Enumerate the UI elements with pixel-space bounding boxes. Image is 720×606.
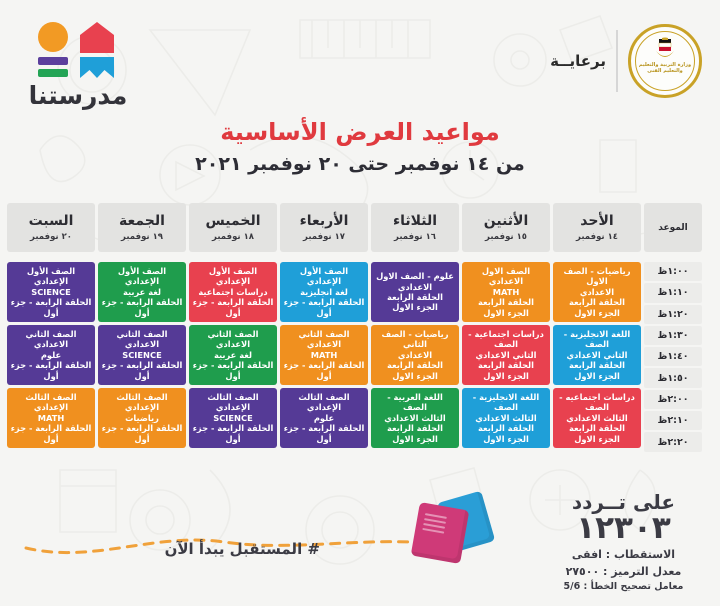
lesson-line: الحلقة الرابعة - جزء أول: [192, 360, 274, 381]
lesson-line: SCIENCE: [122, 350, 162, 360]
logo-purple-bar-shape: [38, 57, 68, 65]
ministry-emblem-icon: وزارة التربية والتعليم والتعليم الفنى: [628, 24, 702, 98]
lesson-line: علوم: [314, 413, 334, 423]
lesson-line: دراسات اجتماعية - الصف: [465, 329, 547, 350]
lesson-line: لغة عربية: [123, 287, 161, 297]
lesson-slot[interactable]: دراسات اجتماعية - الصفالثاني الاعداديالح…: [462, 325, 550, 385]
lesson-slot[interactable]: الصف الثاني الاعداديSCIENCEالحلقة الرابع…: [98, 325, 186, 385]
lesson-line: لغة انجليزية: [300, 287, 348, 297]
fec-text: معامل تصحيح الخطأ : 5/6: [541, 581, 706, 592]
ministry-emblem-block: وزارة التربية والتعليم والتعليم الفنى بر…: [550, 24, 702, 98]
lesson-slot[interactable]: الصف الثاني الاعداديلغة عربيةالحلقة الرا…: [189, 325, 277, 385]
day-name: الأثنين: [484, 214, 529, 228]
day-date: ١٦ نوفمبر: [394, 232, 436, 242]
day-column-2: الصف الاول الاعداديMATHالحلقة الرابعةالج…: [462, 262, 550, 452]
day-header-7: السبت٢٠ نوفمبر: [7, 203, 95, 252]
lesson-slot[interactable]: اللغة الانجليزية - الصفالثالث الاعداديال…: [462, 388, 550, 448]
lesson-line: الجزء الاول: [574, 371, 620, 381]
lesson-line: الصف الثالث الإعدادي: [192, 392, 274, 413]
lesson-line: الحلقة الرابعة: [478, 423, 534, 433]
lesson-line: اللغة الانجليزية - الصف: [556, 329, 638, 350]
lesson-slot[interactable]: الصف الثالث الإعداديSCIENCEالحلقة الرابع…: [189, 388, 277, 448]
time-cell-8: ٢:١٠ظ: [644, 411, 702, 430]
lesson-slot[interactable]: اللغة الانجليزية - الصفالثاني الاعداديال…: [553, 325, 641, 385]
lesson-line: الصف الأول الإعدادي: [192, 266, 274, 287]
lesson-line: الحلقة الرابعة - جزء أول: [10, 297, 92, 318]
logo-circle-shape: [38, 22, 68, 52]
time-cell-2: ١:١٠ظ: [644, 283, 702, 302]
lesson-line: لغة عربية: [214, 350, 252, 360]
lesson-line: الصف الأول الإعدادي: [283, 266, 365, 287]
day-name: الأحد: [580, 214, 613, 228]
time-cell-3: ١:٢٠ظ: [644, 305, 702, 324]
logo-blue-shape: [80, 57, 114, 78]
lesson-line: الصف الاول الاعدادي: [465, 266, 547, 287]
lesson-line: الصف الثالث الإعدادي: [10, 392, 92, 413]
day-name: الجمعة: [119, 214, 165, 228]
lesson-line: الاعدادي: [398, 350, 432, 360]
lesson-line: الحلقة الرابعة - جزء أول: [283, 297, 365, 318]
frequency-value: ١٢٣٠٣: [541, 513, 706, 544]
day-column-6: الصف الأول الإعداديلغة عربيةالحلقة الراب…: [98, 262, 186, 452]
header-divider: [616, 30, 618, 92]
lesson-line: MATH: [493, 287, 520, 297]
lesson-line: MATH: [311, 350, 338, 360]
lesson-line: الحلقة الرابعة - جزء أول: [101, 423, 183, 444]
lesson-line: دراسات اجتماعيه - الصف: [556, 392, 638, 413]
symbol-rate-text: معدل الترميز : ٢٧٥٠٠: [541, 565, 706, 578]
lesson-line: الجزء الاول: [483, 371, 529, 381]
lesson-line: اللغة الانجليزية - الصف: [465, 392, 547, 413]
books-illustration: [413, 494, 505, 566]
lesson-slot[interactable]: رياضيات - الصف الثانيالاعداديالحلقة الرا…: [371, 325, 459, 385]
time-column-header-label: الموعد: [658, 223, 688, 233]
day-date: ١٥ نوفمبر: [485, 232, 527, 242]
lesson-line: الجزء الاول: [483, 434, 529, 444]
lesson-slot[interactable]: الصف الثاني الاعداديعلومالحلقة الرابعة -…: [7, 325, 95, 385]
day-name: الخميس: [205, 214, 260, 228]
lesson-line: الحلقة الرابعة: [569, 297, 625, 307]
lesson-line: الصف الثالث الإعدادي: [101, 392, 183, 413]
lesson-line: الحلقة الرابعة: [387, 423, 443, 433]
lesson-line: الحلقة الرابعة: [478, 360, 534, 370]
day-header-2: الأثنين١٥ نوفمبر: [462, 203, 550, 252]
day-header-row: الموعدالأحد١٤ نوفمبرالأثنين١٥ نوفمبرالثل…: [7, 203, 702, 252]
lesson-slot[interactable]: الصف الثاني الاعداديMATHالحلقة الرابعة -…: [280, 325, 368, 385]
time-cell-7: ٢:٠٠ظ: [644, 390, 702, 409]
day-column-7: الصف الأول الإعداديSCIENCEالحلقة الرابعة…: [7, 262, 95, 452]
lesson-line: رياضيات - الصف الثاني: [374, 329, 456, 350]
lesson-line: الثالث الاعدادي: [475, 413, 536, 423]
lesson-line: الحلقة الرابعة: [387, 360, 443, 370]
day-name: الأربعاء: [300, 214, 349, 228]
lesson-line: الصف الثالث الإعدادي: [283, 392, 365, 413]
lesson-slot[interactable]: دراسات اجتماعيه - الصفالثالث الاعداديالح…: [553, 388, 641, 448]
page-header: وزارة التربية والتعليم والتعليم الفنى بر…: [0, 0, 720, 128]
lesson-line: SCIENCE: [213, 413, 253, 423]
schedule-grid: ١:٠٠ظ١:١٠ظ١:٢٠ظ١:٣٠ظ١:٤٠ظ١:٥٠ظ٢:٠٠ظ٢:١٠ظ…: [7, 262, 702, 452]
lesson-line: الحلقة الرابعة - جزء أول: [283, 360, 365, 381]
lesson-line: رياضيات - الصف الاول: [556, 266, 638, 287]
time-cell-4: ١:٣٠ظ: [644, 326, 702, 345]
lesson-line: الثاني الاعدادي: [475, 350, 536, 360]
lesson-slot[interactable]: الصف الأول الإعداديدراسات اجتماعيةالحلقة…: [189, 262, 277, 322]
lesson-line: الجزء الاول: [574, 308, 620, 318]
emblem-caption: وزارة التربية والتعليم والتعليم الفنى: [628, 62, 702, 75]
day-header-6: الجمعة١٩ نوفمبر: [98, 203, 186, 252]
lesson-line: الجزء الاول: [392, 302, 438, 312]
day-header-3: الثلاثاء١٦ نوفمبر: [371, 203, 459, 252]
day-header-5: الخميس١٨ نوفمبر: [189, 203, 277, 252]
madrasatna-brand: مدرستنا: [26, 22, 130, 110]
day-column-5: الصف الأول الإعداديدراسات اجتماعيةالحلقة…: [189, 262, 277, 452]
pink-book-shape: [411, 502, 470, 564]
day-name: السبت: [29, 214, 74, 228]
page-footer: # المستقبل يبدأ الآن على تــردد ١٢٣٠٣ ال…: [0, 466, 720, 606]
brand-name-text: مدرستنا: [26, 81, 130, 110]
time-column-header: الموعد: [644, 203, 702, 252]
lesson-line: الحلقة الرابعة - جزء أول: [10, 423, 92, 444]
lesson-line: اللغة العربية - الصف: [374, 392, 456, 413]
lesson-line: الحلقة الرابعة - جزء أول: [283, 423, 365, 444]
day-date: ١٤ نوفمبر: [576, 232, 618, 242]
lesson-slot[interactable]: الصف الثالث الإعداديعلومالحلقة الرابعة -…: [280, 388, 368, 448]
lesson-line: الجزء الاول: [483, 308, 529, 318]
day-date: ١٨ نوفمبر: [212, 232, 254, 242]
brand-logo-icon: [36, 22, 120, 78]
lesson-line: علوم - الصف الاول: [376, 271, 454, 281]
lesson-line: دراسات اجتماعية: [198, 287, 267, 297]
day-date: ١٧ نوفمبر: [303, 232, 345, 242]
eagle-icon: [654, 37, 676, 63]
time-cell-6: ١:٥٠ظ: [644, 368, 702, 387]
lesson-slot[interactable]: الصف الاول الاعداديMATHالحلقة الرابعةالج…: [462, 262, 550, 322]
lesson-line: MATH: [38, 413, 65, 423]
lesson-line: الصف الأول الإعدادي: [101, 266, 183, 287]
lesson-slot[interactable]: رياضيات - الصف الاولالاعداديالحلقة الراب…: [553, 262, 641, 322]
page-subtitle: من ١٤ نوفمبر حتى ٢٠ نوفمبر ٢٠٢١: [0, 153, 720, 175]
time-cell-5: ١:٤٠ظ: [644, 347, 702, 366]
day-header-1: الأحد١٤ نوفمبر: [553, 203, 641, 252]
day-date: ١٩ نوفمبر: [121, 232, 163, 242]
logo-green-bar-shape: [38, 69, 68, 77]
lesson-line: الصف الثاني الاعدادي: [10, 329, 92, 350]
day-column-4: الصف الأول الإعداديلغة انجليزيةالحلقة ال…: [280, 262, 368, 452]
lesson-line: الصف الثاني الاعدادي: [283, 329, 365, 350]
lesson-line: علوم: [41, 350, 61, 360]
lesson-slot[interactable]: الصف الأول الإعداديSCIENCEالحلقة الرابعة…: [7, 262, 95, 322]
lesson-line: الاعدادي: [398, 282, 432, 292]
lesson-line: الحلقة الرابعة - جزء أول: [192, 423, 274, 444]
lesson-line: الثالث الاعدادي: [566, 413, 627, 423]
lesson-line: SCIENCE: [31, 287, 71, 297]
day-date: ٢٠ نوفمبر: [30, 232, 72, 242]
polarization-text: الاستقطاب : افقى: [541, 548, 706, 561]
lesson-line: الحلقة الرابعة - جزء أول: [192, 297, 274, 318]
frequency-block: على تــردد ١٢٣٠٣ الاستقطاب : افقى معدل ا…: [541, 490, 706, 592]
lesson-line: الحلقة الرابعة - جزء أول: [10, 360, 92, 381]
time-cell-1: ١:٠٠ظ: [644, 262, 702, 281]
lesson-slot[interactable]: اللغة العربية - الصفالثالث الاعداديالحلق…: [371, 388, 459, 448]
lesson-line: الاعدادي: [580, 287, 614, 297]
logo-house-shape: [80, 22, 114, 53]
lesson-slot[interactable]: الصف الأول الإعداديلغة انجليزيةالحلقة ال…: [280, 262, 368, 322]
lesson-line: الجزء الاول: [392, 371, 438, 381]
page-titles: مواعيد العرض الأساسية من ١٤ نوفمبر حتى ٢…: [0, 118, 720, 175]
sponsor-label: برعايــة: [550, 52, 606, 70]
lesson-line: الجزء الاول: [574, 434, 620, 444]
day-column-1: رياضيات - الصف الاولالاعداديالحلقة الراب…: [553, 262, 641, 452]
lesson-line: الثاني الاعدادي: [566, 350, 627, 360]
lesson-line: رياضيات: [125, 413, 159, 423]
page-title: مواعيد العرض الأساسية: [0, 118, 720, 146]
day-column-3: علوم - الصف الاولالاعداديالحلقة الرابعةا…: [371, 262, 459, 452]
day-name: الثلاثاء: [393, 214, 437, 228]
lesson-line: الحلقة الرابعة: [478, 297, 534, 307]
lesson-line: الصف الأول الإعدادي: [10, 266, 92, 287]
lesson-line: الصف الثاني الاعدادي: [192, 329, 274, 350]
day-header-4: الأربعاء١٧ نوفمبر: [280, 203, 368, 252]
lesson-slot[interactable]: الصف الأول الإعداديلغة عربيةالحلقة الراب…: [98, 262, 186, 322]
lesson-line: الجزء الاول: [392, 434, 438, 444]
lesson-line: الصف الثاني الاعدادي: [101, 329, 183, 350]
lesson-line: الحلقة الرابعة - جزء أول: [101, 360, 183, 381]
lesson-line: الحلقة الرابعة - جزء أول: [101, 297, 183, 318]
lesson-line: الحلقة الرابعة: [387, 292, 443, 302]
infographic-page: وزارة التربية والتعليم والتعليم الفنى بر…: [0, 0, 720, 606]
lesson-slot[interactable]: الصف الثالث الإعداديMATHالحلقة الرابعة -…: [7, 388, 95, 448]
lesson-slot[interactable]: الصف الثالث الإعداديرياضياتالحلقة الرابع…: [98, 388, 186, 448]
time-cell-9: ٢:٢٠ظ: [644, 432, 702, 451]
lesson-line: الحلقة الرابعة: [569, 360, 625, 370]
lesson-slot[interactable]: علوم - الصف الاولالاعداديالحلقة الرابعةا…: [371, 262, 459, 322]
hashtag-text: # المستقبل يبدأ الآن: [165, 540, 320, 558]
lesson-line: الثالث الاعدادي: [384, 413, 445, 423]
lesson-line: الحلقة الرابعة: [569, 423, 625, 433]
time-column: ١:٠٠ظ١:١٠ظ١:٢٠ظ١:٣٠ظ١:٤٠ظ١:٥٠ظ٢:٠٠ظ٢:١٠ظ…: [644, 262, 702, 452]
